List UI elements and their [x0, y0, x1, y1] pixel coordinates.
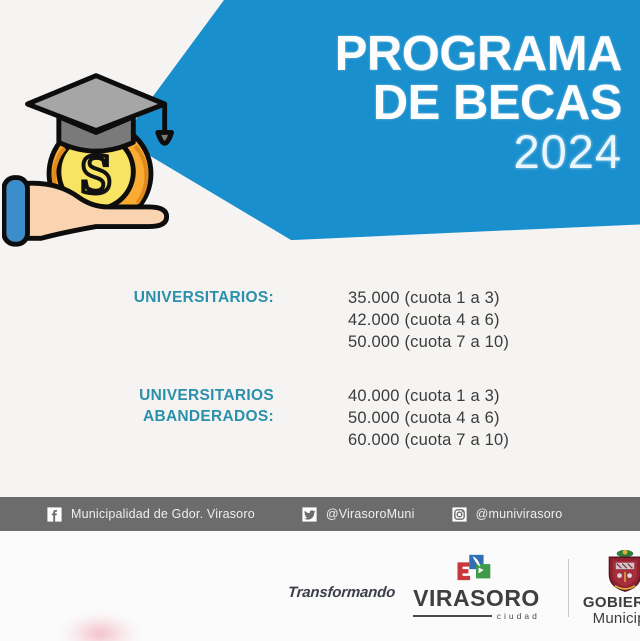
- benefit-value-row: 42.000 (cuota 4 a 6): [348, 310, 509, 332]
- benefit-label-line: UNIVERSITARIOS: [0, 386, 274, 407]
- social-handle: Municipalidad de Gdor. Virasoro: [71, 507, 255, 521]
- social-media-bar: Municipalidad de Gdor. Virasoro @Virasor…: [0, 497, 640, 531]
- social-item-facebook[interactable]: Municipalidad de Gdor. Virasoro: [46, 506, 255, 523]
- title-line-2: DE BECAS: [335, 81, 622, 126]
- footer-divider: [568, 559, 569, 617]
- poster-canvas: PROGRAMA DE BECAS 2024 S: [0, 0, 640, 641]
- benefit-value-row: 50.000 (cuota 7 a 10): [348, 332, 509, 354]
- title-year: 2024: [335, 130, 622, 173]
- gov-line-2: Municipal: [593, 611, 640, 627]
- facebook-icon: [46, 506, 63, 523]
- tagline-transformando: Transformando: [287, 584, 395, 601]
- virasoro-squares-logo: [450, 554, 502, 586]
- benefit-label: UNIVERSITARIOS:: [0, 288, 274, 353]
- benefit-value-row: 35.000 (cuota 1 a 3): [348, 288, 509, 310]
- gov-line-1: GOBIERNO: [583, 595, 640, 611]
- benefit-label-line: ABANDERADOS:: [0, 407, 274, 428]
- benefit-value-row: 60.000 (cuota 7 a 10): [348, 430, 509, 452]
- brand-sub: ciudad: [497, 611, 540, 621]
- brand-rule: [413, 615, 492, 617]
- gobierno-municipal-logo: GOBIERNO Municipal: [583, 549, 640, 627]
- brand-sub-row: ciudad: [413, 611, 540, 621]
- social-item-twitter[interactable]: @VirasoroMuni: [301, 506, 415, 523]
- social-handle: @munivirasoro: [476, 507, 563, 521]
- benefits-section: UNIVERSITARIOS: 35.000 (cuota 1 a 3) 42.…: [0, 262, 640, 492]
- hand-holding-coin-graduation-cap-icon: S: [2, 58, 198, 254]
- title-line-1: PROGRAMA: [335, 32, 622, 77]
- benefit-value-row: 40.000 (cuota 1 a 3): [348, 386, 509, 408]
- benefit-group-universitarios: UNIVERSITARIOS: 35.000 (cuota 1 a 3) 42.…: [0, 288, 640, 353]
- footer-logos: Transformando VIRASORO ciudad: [288, 549, 640, 627]
- header-section: PROGRAMA DE BECAS 2024 S: [0, 0, 640, 250]
- brand-name: VIRASORO: [413, 587, 540, 610]
- twitter-icon: [301, 506, 318, 523]
- social-handle: @VirasoroMuni: [326, 507, 415, 521]
- benefit-group-universitarios-abanderados: UNIVERSITARIOS ABANDERADOS: 40.000 (cuot…: [0, 386, 640, 451]
- benefit-label: UNIVERSITARIOS ABANDERADOS:: [0, 386, 274, 451]
- benefit-values: 35.000 (cuota 1 a 3) 42.000 (cuota 4 a 6…: [348, 288, 509, 353]
- pink-artifact: [60, 612, 140, 641]
- coat-of-arms-icon: [603, 549, 640, 593]
- benefit-values: 40.000 (cuota 1 a 3) 50.000 (cuota 4 a 6…: [348, 386, 509, 451]
- benefit-value-row: 50.000 (cuota 4 a 6): [348, 408, 509, 430]
- page-title: PROGRAMA DE BECAS 2024: [335, 32, 622, 173]
- virasoro-city-logo: VIRASORO ciudad: [413, 554, 540, 621]
- social-item-instagram[interactable]: @munivirasoro: [451, 506, 563, 523]
- instagram-icon: [451, 506, 468, 523]
